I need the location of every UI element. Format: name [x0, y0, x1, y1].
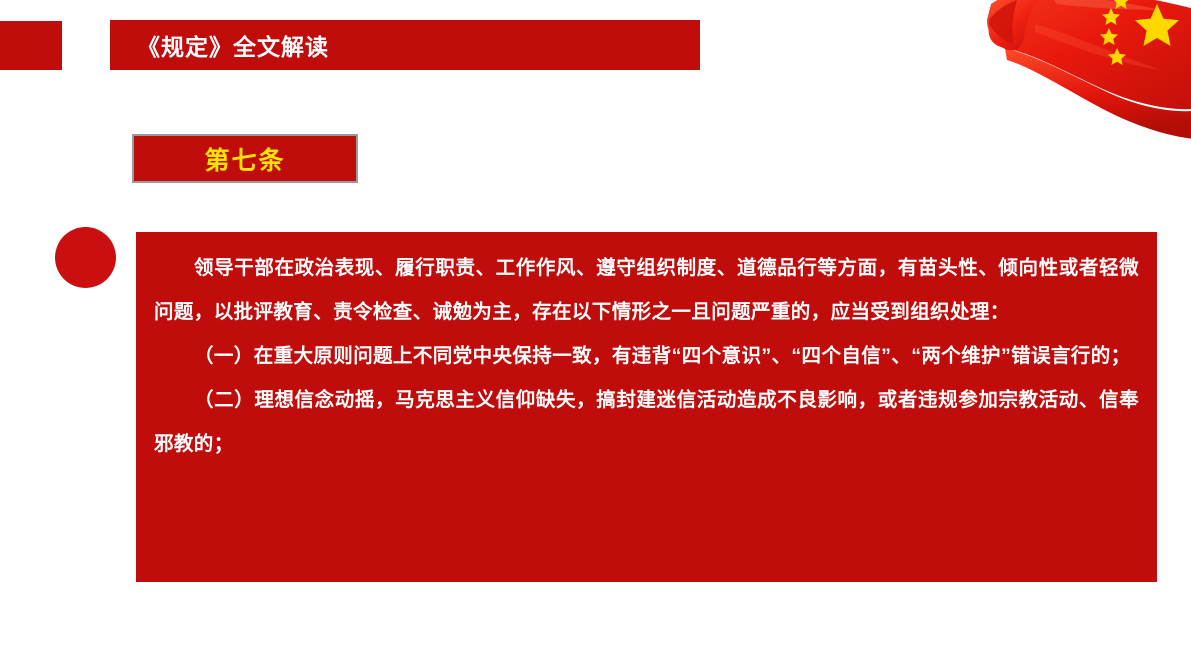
- page-title: 《规定》全文解读: [137, 28, 329, 62]
- header-left-accent-block: [0, 21, 62, 70]
- article-number-label: 第七条: [204, 141, 285, 177]
- article-number-tag: 第七条: [132, 134, 358, 183]
- content-paragraph-3: （二）理想信念动摇，马克思主义信仰缺失，搞封建迷信活动造成不良影响，或者违规参加…: [154, 378, 1139, 466]
- content-paragraph-1: 领导干部在政治表现、履行职责、工作作风、遵守组织制度、道德品行等方面，有苗头性、…: [154, 246, 1139, 334]
- slide-canvas: 《规定》全文解读: [0, 0, 1191, 669]
- flag-stars: [1100, 0, 1179, 65]
- bullet-dot: [55, 227, 116, 288]
- content-paragraph-2: （一）在重大原则问题上不同党中央保持一致，有违背“四个意识”、“四个自信”、“两…: [154, 334, 1139, 378]
- article-content-panel: 领导干部在政治表现、履行职责、工作作风、遵守组织制度、道德品行等方面，有苗头性、…: [136, 232, 1157, 582]
- china-national-flag: [965, 0, 1191, 140]
- header-banner: 《规定》全文解读: [110, 20, 700, 70]
